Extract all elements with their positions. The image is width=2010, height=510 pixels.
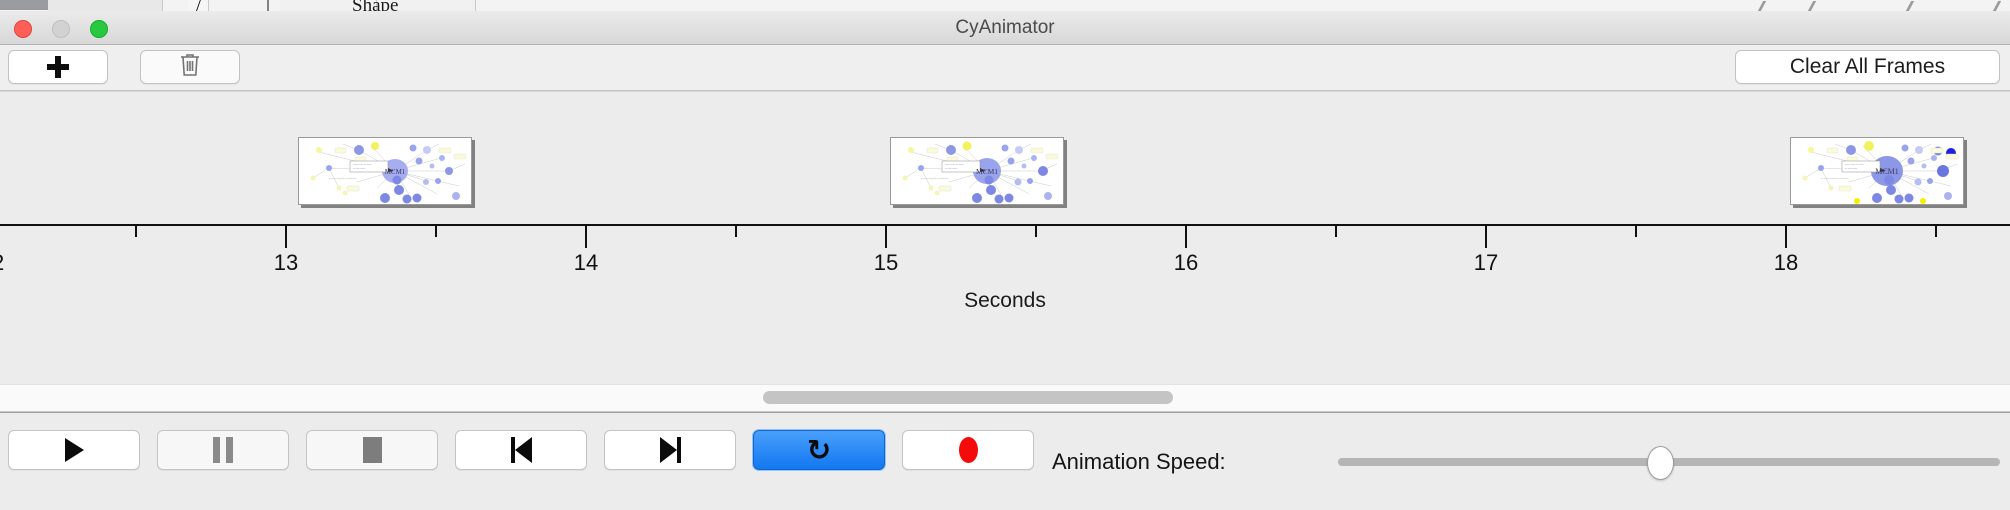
window-title: CyAnimator: [0, 11, 2010, 44]
animation-speed-label: Animation Speed:: [1052, 413, 1226, 510]
frame-center-node-label: MCM1: [1875, 167, 1899, 176]
network-graph-preview: nnnn nnnn nn nnnn nn nnn nnnn nn nnnn nn…: [299, 138, 471, 204]
svg-text:nn nnn nnnn: nn nnn nnnn: [1845, 168, 1858, 170]
ruler-tick-minor: [1035, 226, 1037, 237]
svg-text:nn nnnn nnnnnn nnnnnnnnn: nn nnnn nnnnnn nnnnnnnnn: [329, 178, 357, 180]
frame-thumbnail-2[interactable]: nnnn nnnn nn nnnn nn nnn nnnn nn nnnn nn…: [890, 137, 1064, 205]
network-graph-preview: nnnn nnnn nn nnnn nn nnn nnnn nn nnnn nn…: [891, 138, 1063, 204]
ruler-label: 15: [874, 250, 898, 276]
animation-speed-thumb[interactable]: [1647, 446, 1674, 480]
ruler-tick-major: [1785, 226, 1787, 248]
ruler-label: 17: [1474, 250, 1498, 276]
loop-icon: ↻: [807, 436, 831, 465]
pause-icon: [213, 437, 233, 463]
clear-all-frames-button[interactable]: Clear All Frames: [1735, 50, 2000, 84]
timeline-axis-label: Seconds: [0, 289, 2010, 313]
playback-controls-bar: ↻ Animation Speed:: [0, 412, 2010, 510]
frame-thumbnail-1[interactable]: nnnn nnnn nn nnnn nn nnn nnnn nn nnnn nn…: [298, 137, 472, 205]
ruler-tick-major: [1185, 226, 1187, 248]
ruler-label: 14: [574, 250, 598, 276]
play-icon: [65, 438, 84, 462]
svg-text:nn nnn nnnn: nn nnn nnnn: [945, 168, 958, 170]
ruler-tick-minor: [1635, 226, 1637, 237]
timeline-top-divider: [0, 91, 2010, 92]
svg-text:nnnn nnnn nn nnnn: nnnn nnnn nn nnnn: [353, 164, 373, 166]
add-frame-button[interactable]: [8, 50, 108, 84]
ruler-label: 18: [1774, 250, 1798, 276]
network-graph-preview: nnnn nnnn nn nnnn nn nnn nnnn nn nnnn nn…: [1791, 138, 1963, 204]
svg-text:nnnn nnnn nn nnnn: nnnn nnnn nn nnnn: [1845, 164, 1865, 166]
cyanimator-window: CyAnimator Clear All Frames: [0, 11, 2010, 510]
plus-icon: [47, 56, 69, 78]
play-button[interactable]: [8, 430, 140, 470]
timeline-panel[interactable]: nnnn nnnn nn nnnn nn nnn nnnn nn nnnn nn…: [0, 91, 2010, 412]
svg-text:nn nnnn nnnnnn nnnnnnnnn: nn nnnn nnnnnn nnnnnnnnn: [921, 178, 949, 180]
pause-button[interactable]: [157, 430, 289, 470]
ruler-label: 13: [274, 250, 298, 276]
skip-to-start-button[interactable]: [455, 430, 587, 470]
skip-to-end-button[interactable]: [604, 430, 736, 470]
window-titlebar: CyAnimator: [0, 11, 2010, 45]
ruler-tick-minor: [735, 226, 737, 237]
skip-to-start-icon: [511, 437, 532, 463]
background-window-chunk: [0, 0, 48, 10]
trash-icon: [178, 52, 202, 83]
ruler-tick-major: [1485, 226, 1487, 248]
ruler-label: 16: [1174, 250, 1198, 276]
ruler-tick-major: [285, 226, 287, 248]
skip-to-end-icon: [660, 437, 681, 463]
svg-text:nnnn nnnn nn nnnn: nnnn nnnn nn nnnn: [945, 164, 965, 166]
svg-text:nn nnn nnnn: nn nnn nnnn: [353, 168, 366, 170]
delete-frame-button[interactable]: [140, 50, 240, 84]
ruler-label: 12: [0, 250, 4, 276]
ruler-tick-major: [885, 226, 887, 248]
frame-center-node-label: MCM1: [976, 167, 998, 176]
timeline-scrollbar-thumb[interactable]: [763, 391, 1173, 404]
stop-button[interactable]: [306, 430, 438, 470]
background-window-chunk: [130, 0, 163, 11]
frame-center-node-label: MCM1: [385, 168, 406, 176]
animation-speed-slider[interactable]: [1338, 458, 2000, 466]
stop-icon: [363, 437, 382, 463]
ruler-tick-minor: [1335, 226, 1337, 237]
toolbar: Clear All Frames: [0, 45, 2010, 91]
ruler-tick-major: [585, 226, 587, 248]
ruler-tick-minor: [435, 226, 437, 237]
loop-button[interactable]: ↻: [753, 430, 885, 470]
svg-text:nn nnnn nnnnnn nnnnnnnnn: nn nnnn nnnnnn nnnnnnnnn: [1821, 178, 1849, 180]
timeline-scrollbar-track[interactable]: [0, 384, 2010, 411]
ruler-tick-minor: [1935, 226, 1937, 237]
ruler-tick-minor: [135, 226, 137, 237]
frame-thumbnail-3[interactable]: nnnn nnnn nn nnnn nn nnn nnnn nn nnnn nn…: [1790, 137, 1964, 205]
ruler-baseline: [0, 224, 2010, 226]
timeline-ruler[interactable]: 12 13 14 15 16 17 18: [0, 224, 2010, 284]
background-window-chunk: [48, 0, 131, 11]
record-icon: [959, 437, 978, 463]
record-button[interactable]: [902, 430, 1034, 470]
